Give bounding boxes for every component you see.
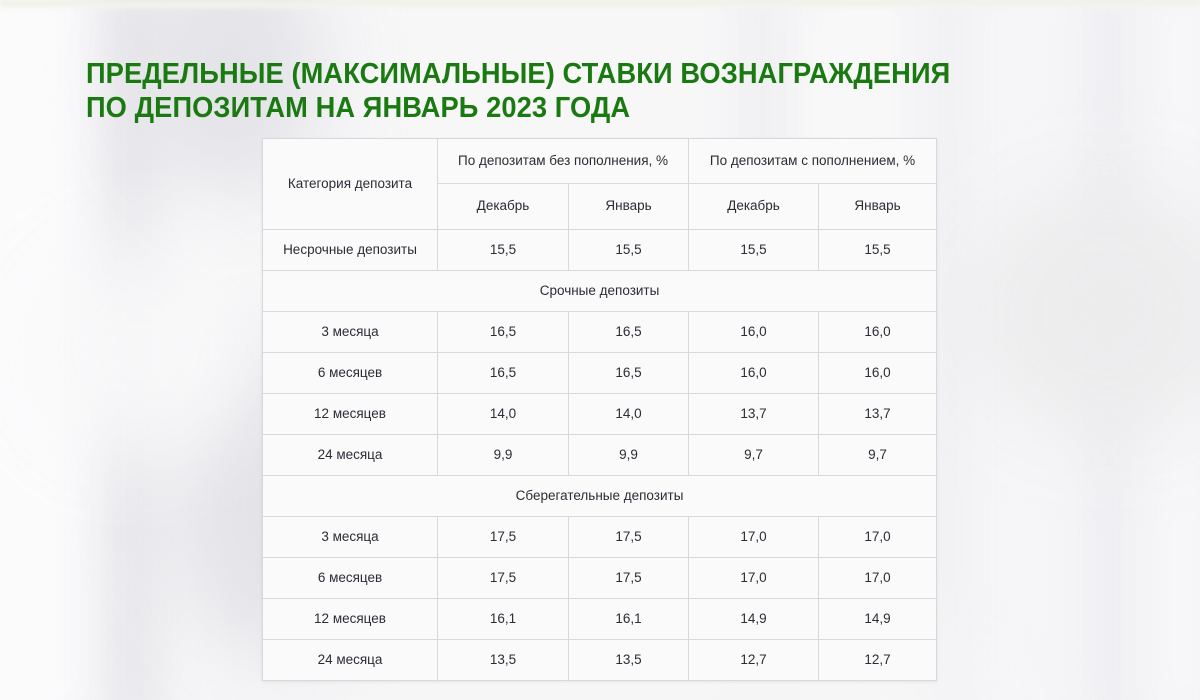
table-body: Несрочные депозиты15,515,515,515,5Срочны…	[263, 230, 937, 681]
row-label: 6 месяцев	[263, 353, 438, 394]
rate-value: 16,5	[569, 353, 689, 394]
table-section-row: Срочные депозиты	[263, 271, 937, 312]
rate-value: 17,0	[819, 517, 937, 558]
table-row: 6 месяцев16,516,516,016,0	[263, 353, 937, 394]
rate-value: 9,7	[689, 435, 819, 476]
table-row: 24 месяца9,99,99,79,7	[263, 435, 937, 476]
rate-value: 16,0	[819, 353, 937, 394]
rate-value: 17,0	[689, 558, 819, 599]
rate-value: 16,0	[689, 353, 819, 394]
page-title-line-1: ПРЕДЕЛЬНЫЕ (МАКСИМАЛЬНЫЕ) СТАВКИ ВОЗНАГР…	[86, 58, 950, 90]
rate-value: 16,5	[569, 312, 689, 353]
table-row: 6 месяцев17,517,517,017,0	[263, 558, 937, 599]
rate-value: 14,9	[689, 599, 819, 640]
row-label: 6 месяцев	[263, 558, 438, 599]
rate-value: 12,7	[819, 640, 937, 681]
rate-value: 16,1	[569, 599, 689, 640]
row-label: 3 месяца	[263, 312, 438, 353]
deposit-rates-table: Категория депозита По депозитам без попо…	[262, 138, 937, 681]
table-row: 3 месяца16,516,516,016,0	[263, 312, 937, 353]
rate-value: 13,7	[689, 394, 819, 435]
table-row: 24 месяца13,513,512,712,7	[263, 640, 937, 681]
section-label: Сберегательные депозиты	[263, 476, 937, 517]
page-title-line-2: ПО ДЕПОЗИТАМ НА ЯНВАРЬ 2023 ГОДА	[86, 92, 630, 124]
rate-value: 12,7	[689, 640, 819, 681]
table-row: 3 месяца17,517,517,017,0	[263, 517, 937, 558]
rate-value: 17,5	[569, 517, 689, 558]
table-section-row: Сберегательные депозиты	[263, 476, 937, 517]
column-header-december-with-topup: Декабрь	[689, 184, 819, 230]
rate-value: 9,9	[438, 435, 569, 476]
rates-table-container: Категория депозита По депозитам без попо…	[262, 138, 936, 681]
rate-value: 14,0	[438, 394, 569, 435]
background-top-strip	[0, 0, 1200, 8]
row-label: Несрочные депозиты	[263, 230, 438, 271]
rate-value: 17,5	[569, 558, 689, 599]
rate-value: 16,1	[438, 599, 569, 640]
rate-value: 16,5	[438, 353, 569, 394]
rate-value: 15,5	[689, 230, 819, 271]
rate-value: 15,5	[438, 230, 569, 271]
rate-value: 16,5	[438, 312, 569, 353]
rate-value: 9,7	[819, 435, 937, 476]
rate-value: 14,9	[819, 599, 937, 640]
table-row: 12 месяцев16,116,114,914,9	[263, 599, 937, 640]
rate-value: 16,0	[819, 312, 937, 353]
row-label: 12 месяцев	[263, 599, 438, 640]
page-title: ПРЕДЕЛЬНЫЕ (МАКСИМАЛЬНЫЕ) СТАВКИ ВОЗНАГР…	[86, 57, 1101, 125]
row-label: 3 месяца	[263, 517, 438, 558]
rate-value: 17,0	[819, 558, 937, 599]
rate-value: 17,5	[438, 558, 569, 599]
column-group-header-without-topup: По депозитам без пополнения, %	[438, 139, 689, 184]
column-header-december-without-topup: Декабрь	[438, 184, 569, 230]
column-header-category: Категория депозита	[263, 139, 438, 230]
row-label: 24 месяца	[263, 435, 438, 476]
row-label: 12 месяцев	[263, 394, 438, 435]
rate-value: 17,0	[689, 517, 819, 558]
column-group-header-with-topup: По депозитам с пополнением, %	[689, 139, 937, 184]
table-head: Категория депозита По депозитам без попо…	[263, 139, 937, 230]
row-label: 24 месяца	[263, 640, 438, 681]
background-blob-mid	[20, 240, 260, 460]
rate-value: 13,7	[819, 394, 937, 435]
rate-value: 16,0	[689, 312, 819, 353]
table-header-row-groups: Категория депозита По депозитам без попо…	[263, 139, 937, 184]
rate-value: 9,9	[569, 435, 689, 476]
table-row: Несрочные депозиты15,515,515,515,5	[263, 230, 937, 271]
column-header-january-with-topup: Январь	[819, 184, 937, 230]
table-row: 12 месяцев14,014,013,713,7	[263, 394, 937, 435]
column-header-january-without-topup: Январь	[569, 184, 689, 230]
section-label: Срочные депозиты	[263, 271, 937, 312]
rate-value: 17,5	[438, 517, 569, 558]
rate-value: 15,5	[569, 230, 689, 271]
rate-value: 14,0	[569, 394, 689, 435]
rate-value: 13,5	[438, 640, 569, 681]
rate-value: 13,5	[569, 640, 689, 681]
rate-value: 15,5	[819, 230, 937, 271]
